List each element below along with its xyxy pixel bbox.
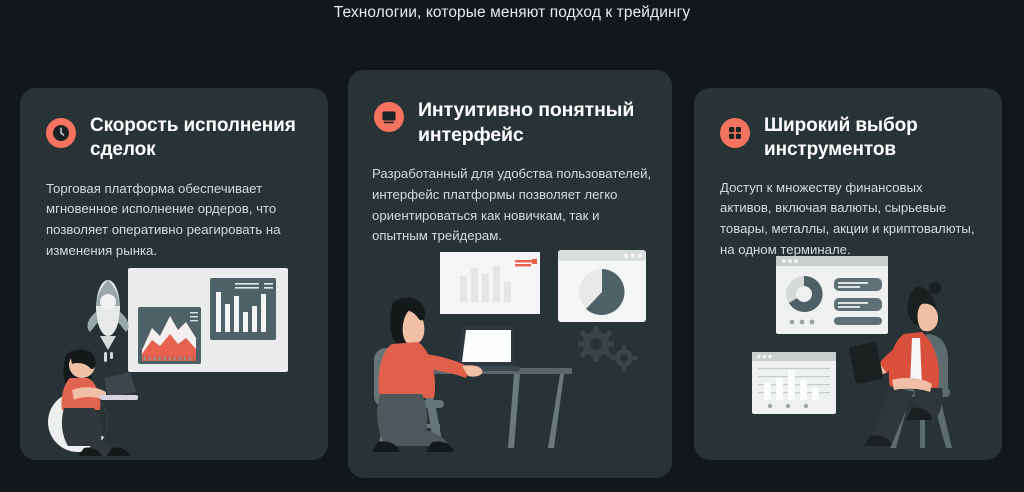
illustration-woman-with-tablet [694,248,1002,460]
feature-card-interface[interactable]: Интуитивно понятный интерфейс Разработан… [348,70,672,478]
card-description: Разработанный для удобства пользователей… [348,148,672,247]
card-header: Широкий выбор инструментов [694,88,1002,163]
feature-card-speed[interactable]: Скорость исполнения сделок Торговая плат… [20,88,328,460]
card-description: Торговая платформа обеспечивает мгновенн… [20,163,328,262]
card-title: Интуитивно понятный интерфейс [418,98,650,148]
page-title: Технологии, которые меняют подход к трей… [0,4,1024,22]
illustration-man-at-desk [348,248,672,478]
grid-icon [720,118,750,148]
card-header: Интуитивно понятный интерфейс [348,70,672,148]
card-header: Скорость исполнения сделок [20,88,328,163]
feature-card-instruments[interactable]: Широкий выбор инструментов Доступ к множ… [694,88,1002,460]
card-title: Широкий выбор инструментов [764,114,980,163]
card-description: Доступ к множеству финансовых активов, в… [694,163,1002,261]
illustration-woman-with-laptop [20,250,328,460]
monitor-icon [374,102,404,132]
clock-icon [46,118,76,148]
card-title: Скорость исполнения сделок [90,114,306,163]
